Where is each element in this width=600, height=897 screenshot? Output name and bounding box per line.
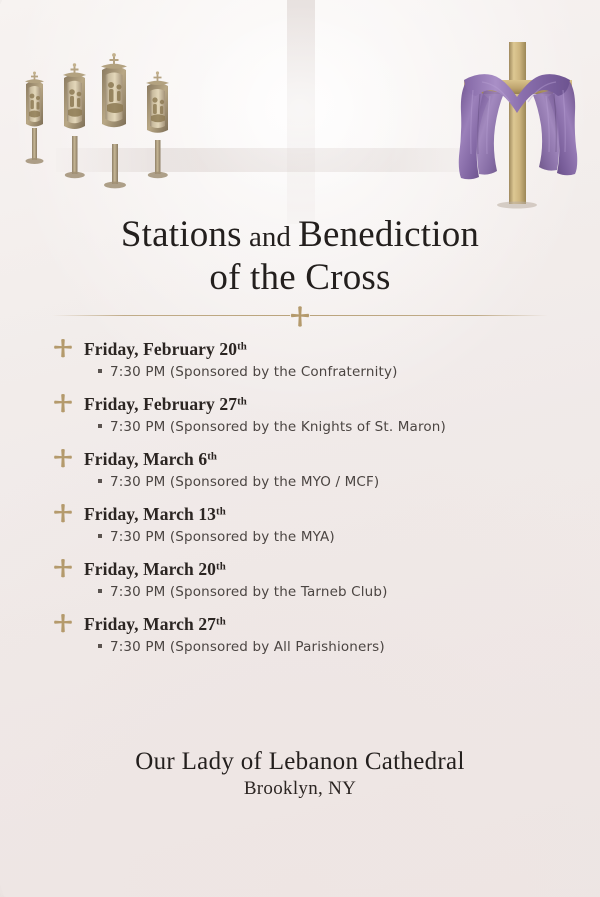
bullet-icon: [98, 534, 102, 538]
schedule-entry: Friday, March 20th 7:30 PM (Sponsored by…: [52, 558, 552, 600]
cross-bullet-icon: [52, 558, 74, 580]
poster-title: Stations and Benediction of the Cross: [0, 214, 600, 300]
schedule-detail-row: 7:30 PM (Sponsored by the MYA): [98, 529, 552, 545]
schedule-entry: Friday, March 13th 7:30 PM (Sponsored by…: [52, 503, 552, 545]
schedule-entry: Friday, February 27th 7:30 PM (Sponsored…: [52, 393, 552, 435]
title-line-1: Stations and Benediction: [0, 214, 600, 257]
cross-bullet-icon: [52, 448, 74, 470]
divider-rule-right: [310, 315, 548, 316]
draped-cross-icon: [446, 30, 596, 210]
schedule-date: Friday, March 6th: [84, 449, 217, 470]
stations-of-the-cross-plaques-icon: [8, 40, 198, 190]
poster-footer: Our Lady of Lebanon Cathedral Brooklyn, …: [0, 748, 600, 800]
cross-divider: [0, 303, 600, 329]
organization-name: Our Lady of Lebanon Cathedral: [0, 748, 600, 776]
title-line-2: of the Cross: [0, 257, 600, 300]
schedule-detail-row: 7:30 PM (Sponsored by the MYO / MCF): [98, 474, 552, 490]
schedule-detail-row: 7:30 PM (Sponsored by the Tarneb Club): [98, 584, 552, 600]
schedule-detail-row: 7:30 PM (Sponsored by All Parishioners): [98, 639, 552, 655]
cross-bullet-icon: [52, 393, 74, 415]
cross-bullet-icon: [52, 613, 74, 635]
schedule-detail: 7:30 PM (Sponsored by All Parishioners): [110, 639, 385, 655]
poster-artwork: [0, 0, 600, 200]
schedule-detail-row: 7:30 PM (Sponsored by the Confraternity): [98, 364, 552, 380]
schedule-date: Friday, February 27th: [84, 394, 247, 415]
schedule-detail: 7:30 PM (Sponsored by the MYA): [110, 529, 335, 545]
bullet-icon: [98, 589, 102, 593]
divider-rule-left: [52, 315, 290, 316]
schedule-entry: Friday, March 6th 7:30 PM (Sponsored by …: [52, 448, 552, 490]
schedule-detail: 7:30 PM (Sponsored by the MYO / MCF): [110, 474, 379, 490]
schedule-entry: Friday, February 20th 7:30 PM (Sponsored…: [52, 338, 552, 380]
schedule-entry: Friday, March 27th 7:30 PM (Sponsored by…: [52, 613, 552, 655]
title-word-and: and: [242, 221, 298, 253]
schedule-list: Friday, February 20th 7:30 PM (Sponsored…: [52, 338, 552, 668]
event-poster: Stations and Benediction of the Cross Fr…: [0, 0, 600, 897]
title-word-stations: Stations: [121, 214, 242, 255]
schedule-date: Friday, March 13th: [84, 504, 226, 525]
schedule-date: Friday, February 20th: [84, 339, 247, 360]
schedule-detail: 7:30 PM (Sponsored by the Knights of St.…: [110, 419, 446, 435]
schedule-detail: 7:30 PM (Sponsored by the Confraternity): [110, 364, 398, 380]
schedule-date: Friday, March 20th: [84, 559, 226, 580]
bullet-icon: [98, 644, 102, 648]
schedule-detail-row: 7:30 PM (Sponsored by the Knights of St.…: [98, 419, 552, 435]
bullet-icon: [98, 369, 102, 373]
cross-divider-icon: [287, 305, 313, 329]
title-word-benediction: Benediction: [298, 214, 479, 255]
schedule-date: Friday, March 27th: [84, 614, 226, 635]
bullet-icon: [98, 479, 102, 483]
cross-bullet-icon: [52, 338, 74, 360]
organization-location: Brooklyn, NY: [0, 778, 600, 800]
schedule-detail: 7:30 PM (Sponsored by the Tarneb Club): [110, 584, 388, 600]
cross-bullet-icon: [52, 503, 74, 525]
bullet-icon: [98, 424, 102, 428]
